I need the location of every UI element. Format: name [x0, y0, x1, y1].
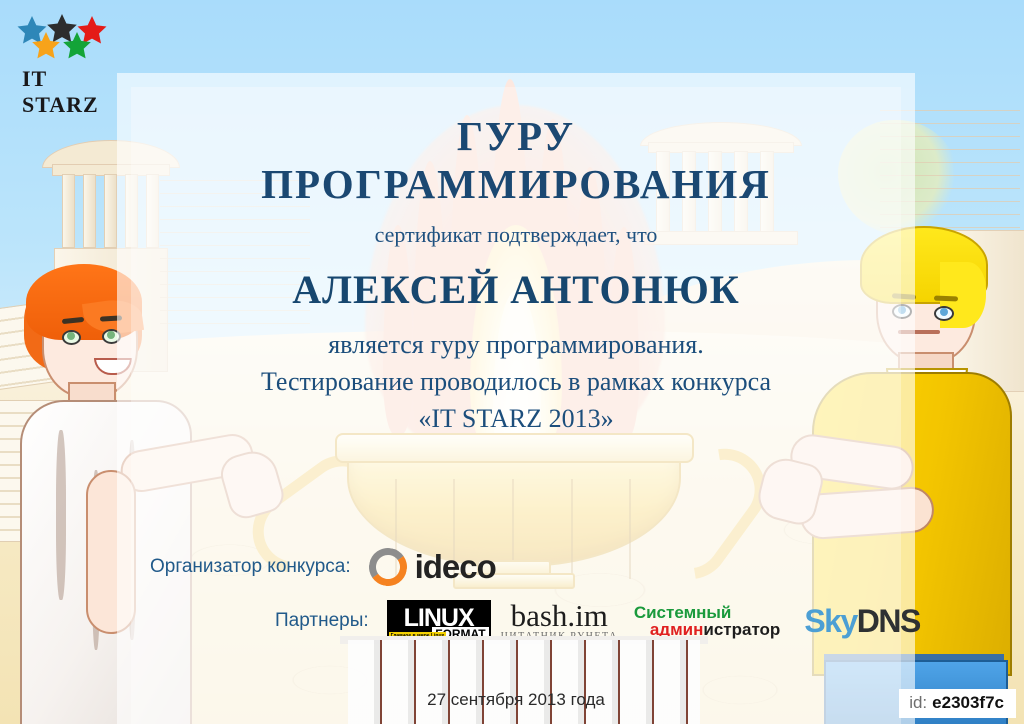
skydns-word-b: DNS [857, 603, 920, 639]
recipient-name: АЛЕКСЕЙ АНТОНЮК [117, 266, 915, 313]
certificate-id-label: id: [909, 693, 927, 712]
certificate-subtitle: сертификат подтверждает, что [117, 222, 915, 248]
ideco-wordmark: ideco [415, 548, 496, 586]
certificate-title-line1: ГУРУ [117, 112, 915, 160]
certificate-body-line1: является гуру программирования. [117, 330, 915, 360]
certificate-body-line3: «IT STARZ 2013» [117, 404, 915, 434]
sysadmin-logo: Системный администратор [634, 604, 781, 639]
organizer-label: Организатор конкурса: [150, 556, 351, 578]
sysadmin-word1: Системный [634, 604, 781, 621]
certificate-canvas: IT STARZ ГУРУ ПРОГРАММИРОВАНИЯ сертифика… [0, 0, 1024, 724]
organizer-row: Организатор конкурса: ideco [150, 548, 570, 586]
skydns-logo: SkyDNS [804, 603, 920, 640]
certificate-id-value: e2303f7c [932, 693, 1004, 712]
certificate-body-line2: Тестирование проводилось в рамках конкур… [117, 367, 915, 397]
stars-icon [14, 14, 114, 64]
certificate-title-line2: ПРОГРАММИРОВАНИЯ [117, 160, 915, 208]
it-starz-logo: IT STARZ [14, 14, 114, 92]
cup-rim [335, 433, 694, 463]
certificate-id-box: id:e2303f7c [899, 689, 1016, 718]
sysadmin-word2-suffix: истратор [703, 620, 780, 639]
skydns-word-a: Sky [804, 603, 856, 639]
logo-text: IT STARZ [22, 66, 114, 118]
ideco-logo: ideco [369, 548, 496, 586]
bash-im-word: bash.im [511, 600, 608, 631]
pedestal-columns [348, 640, 700, 724]
partners-label: Партнеры: [275, 610, 369, 632]
certificate-date: 27 сентября 2013 года [117, 690, 915, 710]
ideco-swirl-icon [369, 548, 407, 586]
